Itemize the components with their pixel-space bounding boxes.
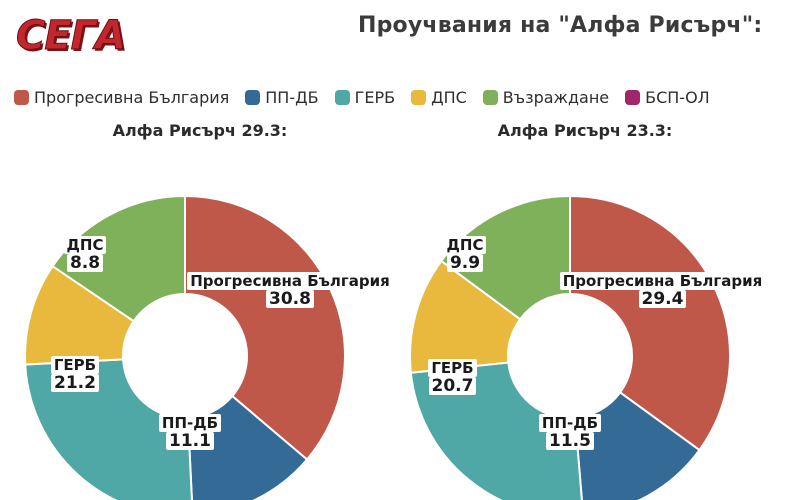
- legend-item-label: Прогресивна България: [34, 89, 229, 106]
- donut-chart-right: Алфа Рисърч 23.3: Прогресивна България29…: [385, 118, 785, 500]
- donut-left-title: Алфа Рисърч 29.3:: [0, 118, 400, 144]
- legend-item-label: ГЕРБ: [355, 89, 396, 106]
- legend-item[interactable]: Прогресивна България: [14, 89, 229, 106]
- donut-svg: [0, 144, 400, 500]
- donut-segment[interactable]: [570, 196, 730, 450]
- legend-item[interactable]: ДПС: [411, 89, 467, 106]
- sega-logo: СЕГА: [16, 10, 116, 62]
- legend-item[interactable]: БСП-ОЛ: [625, 89, 710, 106]
- donut-right-title: Алфа Рисърч 23.3:: [385, 118, 785, 144]
- donut-chart-left: Алфа Рисърч 29.3: Прогресивна България30…: [0, 118, 400, 500]
- legend-swatch-icon: [625, 90, 640, 105]
- legend-item-label: БСП-ОЛ: [645, 89, 710, 106]
- legend-item[interactable]: Възраждане: [483, 89, 609, 106]
- legend-item-label: ПП-ДБ: [265, 89, 318, 106]
- chart-legend: Прогресивна БългарияПП-ДБГЕРБДПСВъзражда…: [14, 84, 794, 110]
- legend-item[interactable]: ПП-ДБ: [245, 89, 318, 106]
- legend-swatch-icon: [483, 90, 498, 105]
- legend-swatch-icon: [335, 90, 350, 105]
- legend-swatch-icon: [245, 90, 260, 105]
- sega-logo-text: СЕГА: [16, 10, 116, 62]
- page-title: Проучвания на "Алфа Рисърч":: [358, 8, 800, 44]
- donut-svg: [385, 144, 785, 500]
- infographic-canvas: СЕГА Проучвания на "Алфа Рисърч": Прогре…: [0, 0, 800, 500]
- legend-item[interactable]: ГЕРБ: [335, 89, 396, 106]
- donut-segment[interactable]: [25, 359, 192, 500]
- legend-swatch-icon: [411, 90, 426, 105]
- legend-swatch-icon: [14, 90, 29, 105]
- legend-item-label: ДПС: [431, 89, 467, 106]
- legend-item-label: Възраждане: [503, 89, 609, 106]
- donut-segment[interactable]: [411, 362, 583, 500]
